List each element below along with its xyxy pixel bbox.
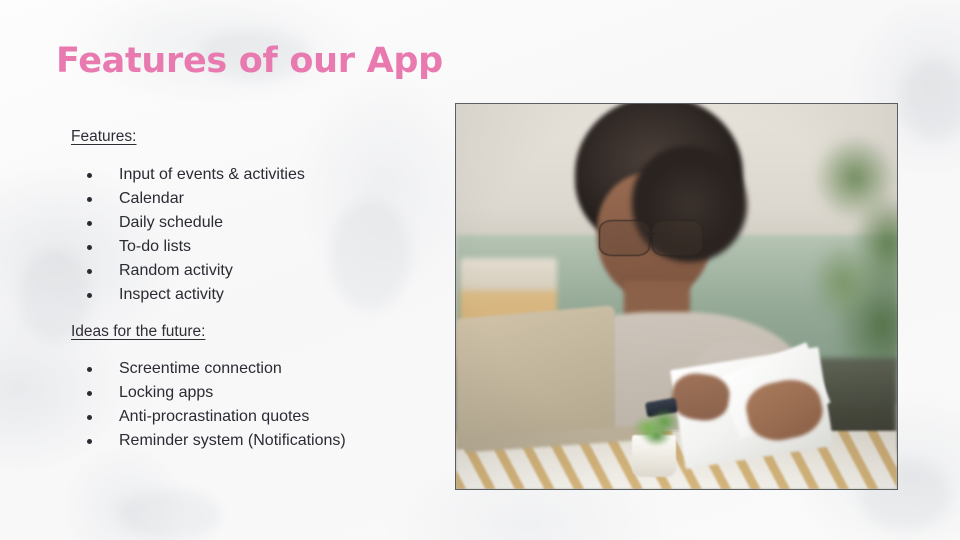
bullet-icon bbox=[87, 293, 92, 298]
list-item-label: Reminder system (Notifications) bbox=[119, 432, 346, 449]
list-item-label: Daily schedule bbox=[119, 214, 223, 231]
list-item: Inspect activity bbox=[71, 283, 436, 307]
list-item-label: Random activity bbox=[119, 262, 233, 279]
bullet-icon bbox=[87, 367, 92, 372]
page-title: Features of our App bbox=[56, 41, 443, 81]
bullet-icon bbox=[87, 197, 92, 202]
list-item: Screentime connection bbox=[71, 357, 436, 381]
bullet-icon bbox=[87, 439, 92, 444]
list-item-label: Input of events & activities bbox=[119, 166, 305, 183]
bullet-icon bbox=[87, 269, 92, 274]
list-item-label: Inspect activity bbox=[119, 286, 224, 303]
list-item: To-do lists bbox=[71, 235, 436, 259]
list-item: Reminder system (Notifications) bbox=[71, 429, 436, 453]
spacer bbox=[71, 147, 436, 163]
bullet-icon bbox=[87, 173, 92, 178]
background-texture-speck bbox=[120, 490, 220, 540]
list-item: Random activity bbox=[71, 259, 436, 283]
bullet-icon bbox=[87, 221, 92, 226]
section-heading-ideas: Ideas for the future: bbox=[71, 323, 436, 342]
ideas-list: Screentime connection Locking apps Anti-… bbox=[71, 357, 436, 453]
bullet-icon bbox=[87, 415, 92, 420]
list-item-label: Calendar bbox=[119, 190, 184, 207]
slide-photo bbox=[455, 103, 898, 490]
list-item: Locking apps bbox=[71, 381, 436, 405]
content-column: Features: Input of events & activities C… bbox=[71, 128, 436, 453]
section-heading-features: Features: bbox=[71, 128, 436, 147]
list-item: Input of events & activities bbox=[71, 163, 436, 187]
spacer bbox=[71, 307, 436, 323]
list-item: Calendar bbox=[71, 187, 436, 211]
list-item-label: Locking apps bbox=[119, 384, 213, 401]
photo-vignette bbox=[456, 104, 897, 489]
list-item-label: Anti-procrastination quotes bbox=[119, 408, 309, 425]
features-list: Input of events & activities Calendar Da… bbox=[71, 163, 436, 307]
list-item-label: Screentime connection bbox=[119, 360, 282, 377]
list-item-label: To-do lists bbox=[119, 238, 191, 255]
background-texture-speck bbox=[900, 60, 960, 140]
spacer bbox=[71, 341, 436, 357]
slide: Features of our App Features: Input of e… bbox=[0, 0, 960, 540]
list-item: Anti-procrastination quotes bbox=[71, 405, 436, 429]
bullet-icon bbox=[87, 391, 92, 396]
list-item: Daily schedule bbox=[71, 211, 436, 235]
photo-content bbox=[456, 104, 897, 489]
bullet-icon bbox=[87, 245, 92, 250]
